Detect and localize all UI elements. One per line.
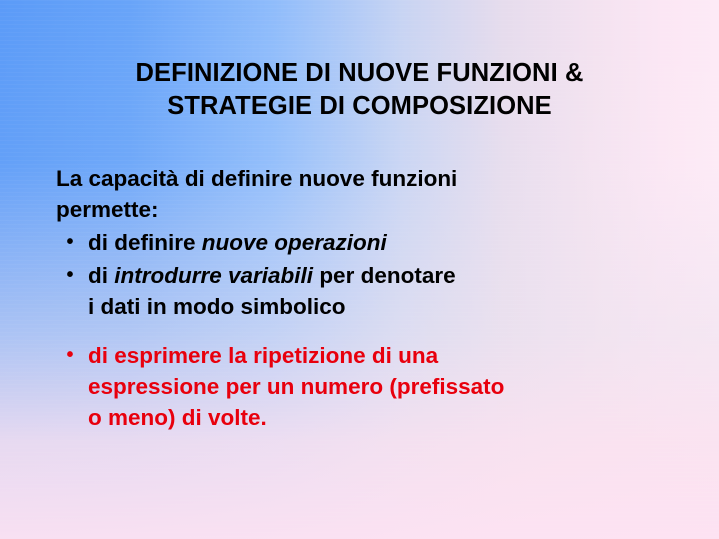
list-item-text: di definire nuove operazioni [88,227,656,258]
list-item-line: di definire nuove operazioni [88,227,656,258]
list-item-line: i dati in modo simbolico [88,291,656,322]
text-segment: o meno) di volte. [88,405,267,430]
lead-line-1: La capacità di definire nuove funzioni [56,163,576,194]
title-line-1: DEFINIZIONE DI NUOVE FUNZIONI & [40,57,679,90]
lead-paragraph: La capacità di definire nuove funzioni p… [56,163,576,225]
text-segment-italic: introdurre variabili [114,263,313,288]
text-segment: di definire [88,230,202,255]
text-segment: espressione per un numero (prefissato [88,374,504,399]
title-line-2: STRATEGIE DI COMPOSIZIONE [40,90,679,123]
list-item-line: o meno) di volte. [88,402,656,433]
slide-body: La capacità di definire nuove funzioni p… [56,163,656,433]
text-segment: per denotare [313,263,456,288]
list-item: • di definire nuove operazioni [56,227,656,258]
list-item-highlighted: • di esprimere la ripetizione di una esp… [56,340,656,433]
text-segment: i dati in modo simbolico [88,294,346,319]
list-item-text: di introdurre variabili per denotare i d… [88,260,656,322]
text-segment: di [88,263,114,288]
slide-canvas: DEFINIZIONE DI NUOVE FUNZIONI & STRATEGI… [0,0,719,539]
list-item: • di introdurre variabili per denotare i… [56,260,656,322]
text-segment-italic: nuove operazioni [202,230,387,255]
list-item-line: di introdurre variabili per denotare [88,260,656,291]
bullet-dot-icon: • [63,227,77,258]
text-segment: di esprimere la ripetizione di una [88,343,438,368]
list-spacer [56,322,656,338]
bullet-list: • di definire nuove operazioni • di intr… [56,227,656,433]
page-title: DEFINIZIONE DI NUOVE FUNZIONI & STRATEGI… [40,57,679,123]
list-item-text: di esprimere la ripetizione di una espre… [88,340,656,433]
list-item-line: espressione per un numero (prefissato [88,371,656,402]
list-item-line: di esprimere la ripetizione di una [88,340,656,371]
bullet-dot-icon: • [63,340,77,371]
bullet-dot-icon: • [63,260,77,291]
lead-line-2: permette: [56,194,576,225]
